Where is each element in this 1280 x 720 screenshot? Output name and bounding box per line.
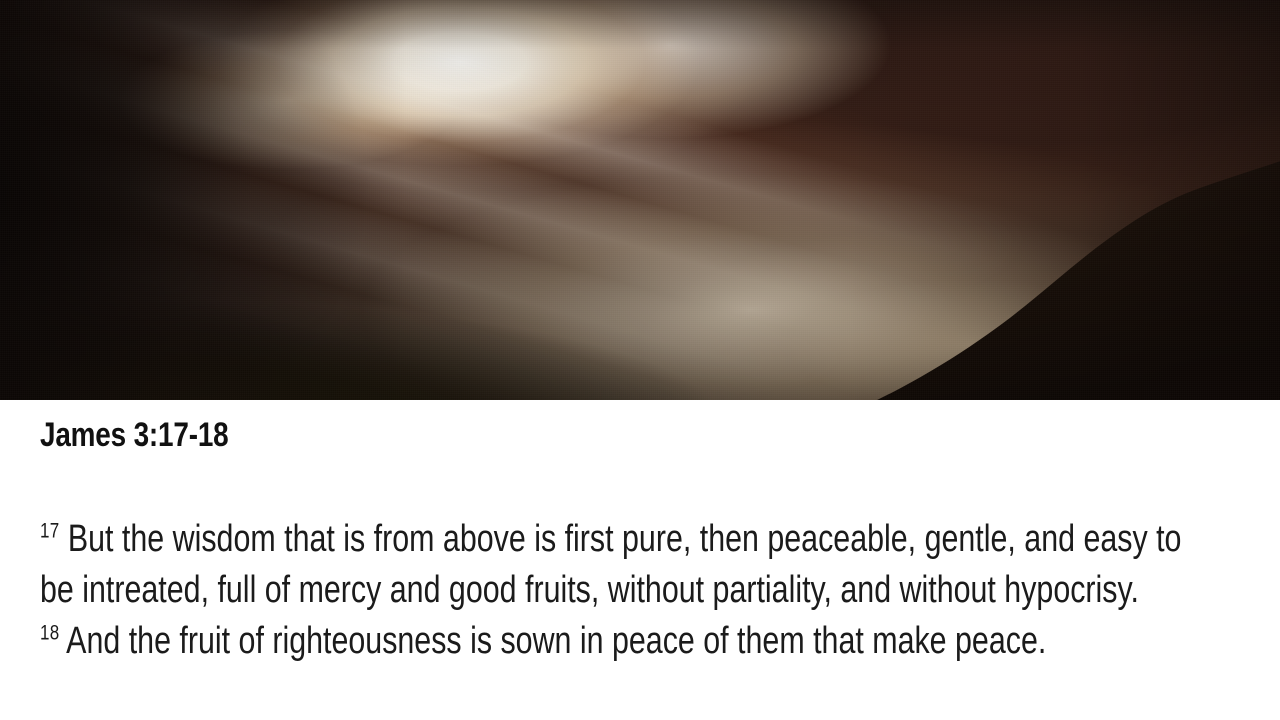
verse-line-text: be intreated, full of mercy and good fru… — [40, 569, 1139, 611]
passage-text: 17 But the wisdom that is from above is … — [40, 514, 1024, 667]
verse-number: 18 — [40, 620, 59, 644]
verse-line: 17 But the wisdom that is from above is … — [40, 514, 1024, 565]
verse-number: 17 — [40, 518, 59, 542]
verse-line-text: And the fruit of righteousness is sown i… — [59, 620, 1046, 662]
scripture-slide: James 3:17-18 17 But the wisdom that is … — [0, 0, 1280, 720]
background-photo — [0, 0, 1280, 400]
verse-content: James 3:17-18 17 But the wisdom that is … — [0, 398, 1280, 720]
verse-line-text: But the wisdom that is from above is fir… — [59, 518, 1181, 560]
scripture-reference: James 3:17-18 — [40, 416, 229, 455]
verse-line: 18 And the fruit of righteousness is sow… — [40, 616, 1024, 667]
film-grain-layer — [0, 0, 1280, 400]
verse-line: be intreated, full of mercy and good fru… — [40, 565, 1024, 616]
